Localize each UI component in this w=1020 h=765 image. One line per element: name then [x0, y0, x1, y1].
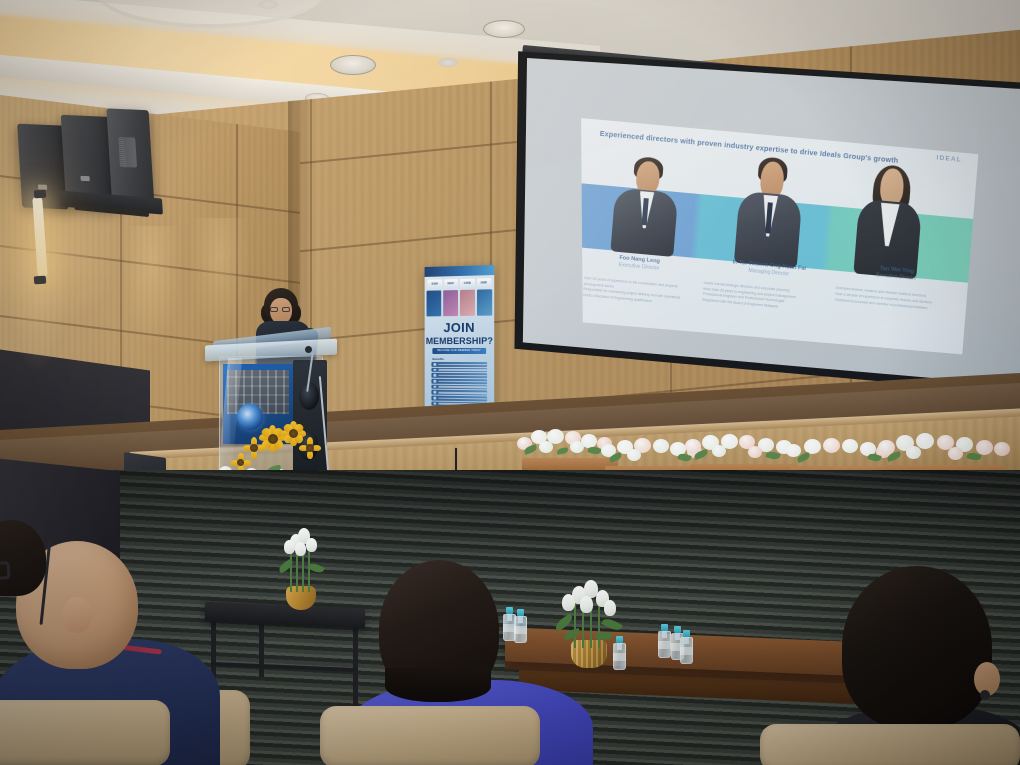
banner-benefit-item — [431, 390, 487, 395]
audience-head — [0, 520, 46, 596]
chair-armrest — [320, 706, 540, 765]
armchair-right — [760, 724, 1020, 765]
banner-benefit-item — [431, 379, 487, 384]
tulip-icon — [284, 540, 295, 554]
chair-armrest — [760, 724, 1020, 765]
banner-photo — [477, 289, 493, 316]
chair-armrest — [0, 700, 170, 765]
flower-cluster — [875, 428, 1014, 471]
conference-hall-photo: IDEAL Experienced directors with proven … — [0, 0, 1020, 765]
tulip-icon — [306, 538, 317, 552]
bottle-cap — [661, 624, 668, 631]
banner-list-header: Benefits — [432, 357, 444, 361]
tulip-arrangement-side — [268, 528, 334, 610]
armchair-left-back — [0, 700, 180, 765]
slide-bullets-2: Leads overall strategic direction and co… — [702, 281, 823, 315]
banner-logo: SME — [477, 278, 492, 287]
banner-photo-strip — [427, 289, 493, 316]
banner-ribbon: BECOME OUR MEMBER TODAY — [432, 348, 486, 354]
glasses-icon — [270, 307, 292, 312]
sunflower-icon — [300, 438, 320, 458]
eyeglass-frame-right — [0, 561, 11, 581]
banner-benefit-item — [431, 384, 487, 389]
slide-portrait-3 — [849, 165, 929, 278]
audience-member-far-left — [0, 520, 66, 610]
banner-logo: SSM — [428, 279, 442, 288]
bottle-label — [658, 641, 671, 649]
banner-logo: CIDB — [460, 278, 475, 287]
microphone-icon — [305, 346, 312, 353]
sconce-cap — [34, 276, 47, 285]
tulip-icon — [295, 542, 306, 556]
bottle-cap — [683, 630, 690, 637]
bottle-neck — [662, 630, 667, 638]
earring-icon — [980, 690, 990, 700]
banner-benefit-item — [431, 362, 487, 367]
audience-head — [842, 566, 992, 728]
banner-photo — [443, 290, 458, 316]
smoke-detector-icon — [258, 0, 278, 9]
bottle-label — [680, 647, 693, 655]
banner-benefit-item — [431, 368, 487, 373]
banner-benefit-item — [431, 373, 487, 378]
banner-headline: JOIN — [425, 320, 495, 336]
banner-photo — [460, 290, 475, 316]
slide-bullets-1: Over 20 years of experience in the const… — [583, 276, 692, 309]
water-bottle — [680, 630, 693, 664]
slide-company-logo: IDEAL — [936, 155, 962, 164]
banner-logo-row: SSM MOF CIDB SME — [428, 276, 492, 290]
audience-hairline — [385, 668, 491, 702]
downlight-icon — [330, 55, 376, 75]
bottle-neck — [684, 636, 689, 644]
slide-bullets-3: Oversees finance, treasury and investor … — [834, 286, 951, 314]
speaker-grille — [118, 137, 137, 168]
banner-photo — [427, 290, 442, 316]
banner-top-bar — [425, 265, 495, 277]
banner-logo: MOF — [444, 279, 458, 288]
downlight-icon — [483, 20, 525, 38]
banner-subheadline: MEMBERSHIP? — [425, 336, 495, 346]
armchair-center — [320, 706, 550, 765]
slide-portrait-1 — [607, 158, 686, 256]
audience-ear — [62, 597, 92, 633]
slide-portrait-2 — [730, 159, 810, 268]
smoke-detector-icon — [438, 58, 458, 67]
sconce-cap — [34, 190, 47, 199]
water-bottle — [658, 624, 671, 658]
banner-benefit-item — [431, 396, 487, 401]
projection-screen: IDEAL Experienced directors with proven … — [505, 46, 1020, 398]
